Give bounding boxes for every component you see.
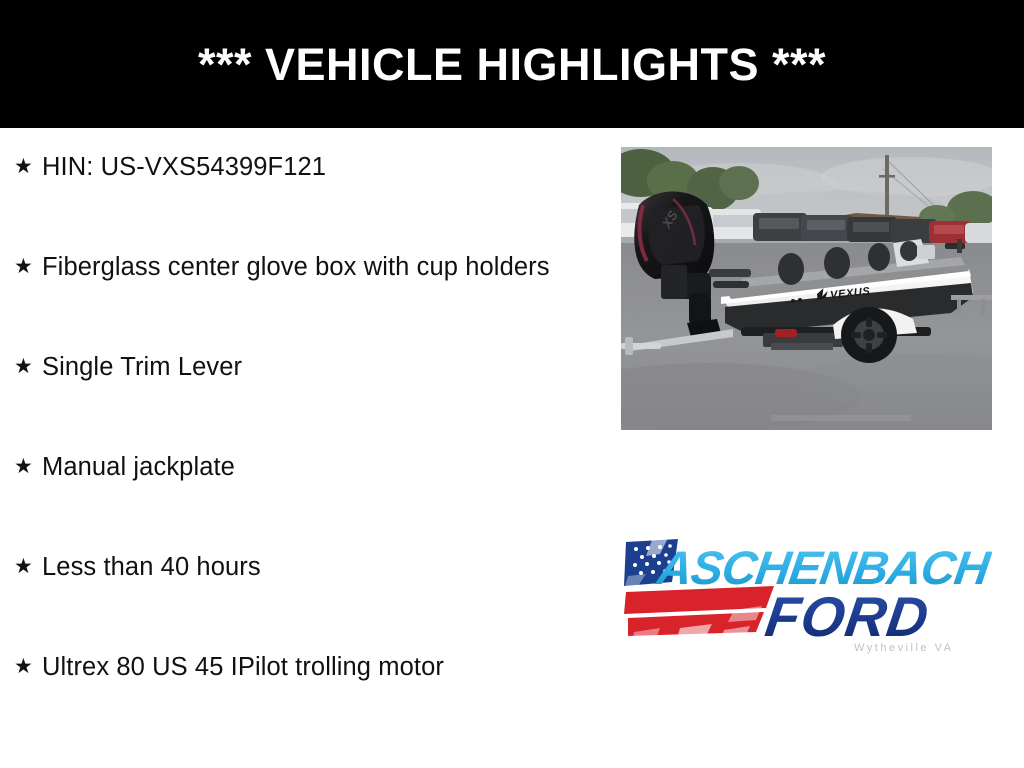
star-icon: ★: [10, 550, 42, 584]
star-icon: ★: [10, 150, 42, 184]
highlight-text: Single Trim Lever: [42, 350, 590, 385]
list-item: ★ Ultrex 80 US 45 IPilot trolling motor: [10, 650, 590, 750]
star-icon: ★: [10, 250, 42, 284]
logo-line2: FORD: [762, 585, 933, 648]
highlight-text: Less than 40 hours: [42, 550, 590, 585]
vehicle-highlights-list: ★ HIN: US-VXS54399F121 ★ Fiberglass cent…: [10, 150, 590, 750]
list-item: ★ Manual jackplate: [10, 450, 590, 550]
content-area: ★ HIN: US-VXS54399F121 ★ Fiberglass cent…: [0, 128, 1024, 768]
dealer-logo: ASCHENBACH FORD Wytheville VA: [616, 532, 992, 657]
vehicle-photo: VEXUS XS: [621, 147, 992, 430]
header-bar: *** VEHICLE HIGHLIGHTS ***: [0, 0, 1024, 128]
list-item: ★ Fiberglass center glove box with cup h…: [10, 250, 590, 350]
highlight-text: Ultrex 80 US 45 IPilot trolling motor: [42, 650, 590, 685]
highlight-text: Manual jackplate: [42, 450, 590, 485]
star-icon: ★: [10, 650, 42, 684]
list-item: ★ Less than 40 hours: [10, 550, 590, 650]
star-icon: ★: [10, 350, 42, 384]
boat-photo-illustration: VEXUS XS: [621, 147, 992, 430]
highlight-text: Fiberglass center glove box with cup hol…: [42, 250, 590, 285]
star-icon: ★: [10, 450, 42, 484]
aschenbach-ford-logo: ASCHENBACH FORD Wytheville VA: [616, 532, 992, 657]
list-item: ★ HIN: US-VXS54399F121: [10, 150, 590, 250]
logo-tagline: Wytheville VA: [854, 642, 953, 654]
page-title: *** VEHICLE HIGHLIGHTS ***: [198, 42, 826, 87]
highlight-text: HIN: US-VXS54399F121: [42, 150, 590, 185]
list-item: ★ Single Trim Lever: [10, 350, 590, 450]
